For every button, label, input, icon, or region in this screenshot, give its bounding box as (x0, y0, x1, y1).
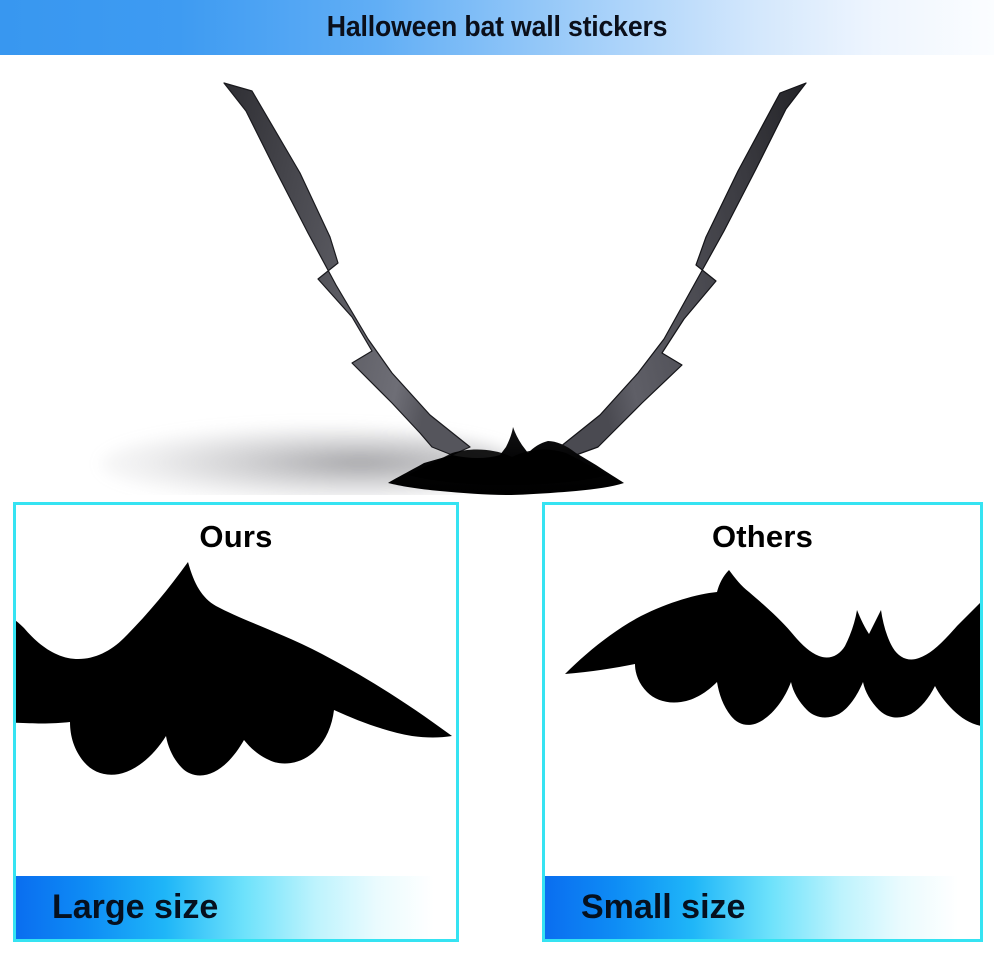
page-title: Halloween bat wall stickers (327, 11, 668, 44)
bat-sticker-illustration (0, 55, 994, 495)
comparison-panels: Ours Large size Others Small size (0, 495, 994, 955)
hero-product-photo (0, 55, 994, 495)
bat-stage-ours (16, 550, 456, 885)
header-banner: Halloween bat wall stickers (0, 0, 994, 55)
bat-stage-others (545, 550, 980, 885)
panel-ours: Ours Large size (13, 502, 459, 942)
small-bat-silhouette (545, 550, 980, 885)
size-label-small: Small size (545, 888, 745, 927)
size-bar-small: Small size (545, 876, 980, 939)
left-wing (224, 83, 470, 455)
size-label-large: Large size (16, 888, 218, 927)
size-bar-large: Large size (16, 876, 456, 939)
right-wing (560, 83, 806, 455)
panel-others: Others Small size (542, 502, 983, 942)
large-bat-silhouette (16, 550, 456, 885)
